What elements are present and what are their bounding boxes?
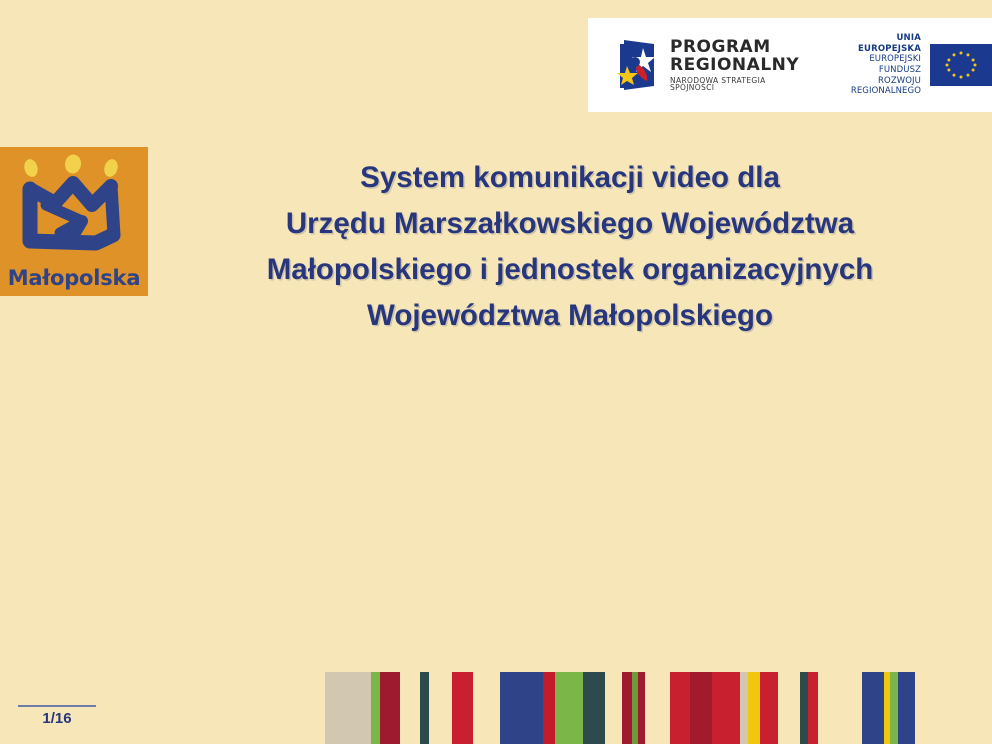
page-number-text: 1/16 — [18, 710, 96, 727]
decorative-stripe-band — [0, 672, 992, 744]
stripe-20 — [862, 672, 884, 744]
slide-title: System komunikacji video dla Urzędu Mars… — [160, 155, 980, 339]
stripe-14 — [712, 672, 740, 744]
stripe-2 — [380, 672, 400, 744]
page-number-rule — [18, 705, 96, 707]
stripe-7 — [555, 672, 583, 744]
unia-europejska-text: UNIA EUROPEJSKA EUROPEJSKI FUNDUSZ ROZWO… — [845, 33, 921, 97]
stripe-9 — [622, 672, 632, 744]
program-regionalny-line3: NARODOWA STRATEGIA SPÓJNOŚCI — [670, 77, 799, 92]
stripe-22 — [890, 672, 898, 744]
stripe-6 — [543, 672, 555, 744]
stripe-19 — [808, 672, 818, 744]
stripe-17 — [760, 672, 778, 744]
page-number: 1/16 — [18, 705, 102, 727]
stripe-4 — [452, 672, 473, 744]
program-regionalny-logo: PROGRAM REGIONALNY NARODOWA STRATEGIA SP… — [614, 38, 799, 92]
presentation-slide: PROGRAM REGIONALNY NARODOWA STRATEGIA SP… — [0, 0, 992, 744]
stripe-8 — [583, 672, 605, 744]
stripe-18 — [800, 672, 808, 744]
unia-europejska-line3: ROZWOJU REGIONALNEGO — [845, 76, 921, 97]
title-line-2: Urzędu Marszałkowskiego Województwa — [160, 201, 980, 247]
stripe-5 — [500, 672, 543, 744]
stripe-12 — [670, 672, 690, 744]
eu-flag-icon — [930, 44, 992, 86]
stripe-15 — [740, 672, 748, 744]
malopolska-crown-icon — [0, 153, 148, 257]
unia-europejska-line1: UNIA EUROPEJSKA — [845, 33, 921, 54]
stripe-0 — [325, 672, 371, 744]
stripe-1 — [371, 672, 380, 744]
program-regionalny-flag-icon — [614, 38, 660, 92]
malopolska-logo-label: Małopolska — [0, 266, 148, 290]
unia-europejska-logo: UNIA EUROPEJSKA EUROPEJSKI FUNDUSZ ROZWO… — [845, 33, 992, 97]
stripe-23 — [898, 672, 915, 744]
malopolska-logo: Małopolska — [0, 147, 148, 296]
title-line-3: Małopolskiego i jednostek organizacyjnyc… — [160, 247, 980, 293]
title-line-4: Województwa Małopolskiego — [160, 293, 980, 339]
eu-funding-banner: PROGRAM REGIONALNY NARODOWA STRATEGIA SP… — [588, 18, 992, 112]
program-regionalny-line2: REGIONALNY — [670, 57, 799, 74]
title-line-1: System komunikacji video dla — [160, 155, 980, 201]
stripe-11 — [638, 672, 645, 744]
program-regionalny-text: PROGRAM REGIONALNY NARODOWA STRATEGIA SP… — [670, 39, 799, 92]
program-regionalny-line1: PROGRAM — [670, 39, 799, 56]
stripe-3 — [420, 672, 429, 744]
stripe-16 — [748, 672, 760, 744]
unia-europejska-line2: EUROPEJSKI FUNDUSZ — [845, 54, 921, 75]
stripe-13 — [690, 672, 712, 744]
